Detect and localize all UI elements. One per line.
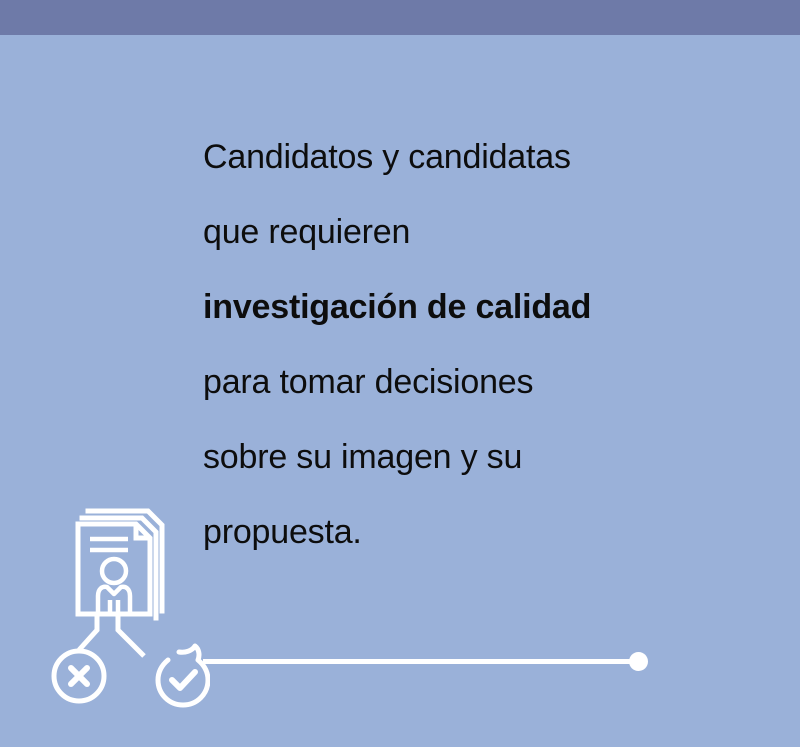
progress-slider[interactable] — [203, 652, 653, 672]
slider-track[interactable] — [203, 659, 638, 664]
slider-knob[interactable] — [629, 652, 648, 671]
reject-circle-icon — [54, 651, 104, 701]
headline-line-4: para tomar decisiones — [203, 364, 673, 402]
headline-line-1: Candidatos y candidatas — [203, 139, 673, 177]
text-lines-icon — [90, 539, 128, 550]
slide-canvas: Candidatos y candidatas que requieren in… — [0, 0, 800, 747]
headline-line-2: que requieren — [203, 214, 673, 252]
approve-circle-icon — [158, 646, 208, 705]
top-color-band — [0, 0, 800, 35]
headline-line-5: sobre su imagen y su — [203, 439, 673, 477]
connector-lines — [79, 614, 144, 656]
page-title: Candidatos y candidatas que requieren in… — [203, 101, 673, 589]
headline-line-3-emphasis: investigación de calidad — [203, 289, 673, 327]
candidate-evaluation-icon — [40, 488, 210, 713]
person-silhouette-icon — [98, 559, 130, 614]
headline-line-6: propuesta. — [203, 514, 673, 552]
